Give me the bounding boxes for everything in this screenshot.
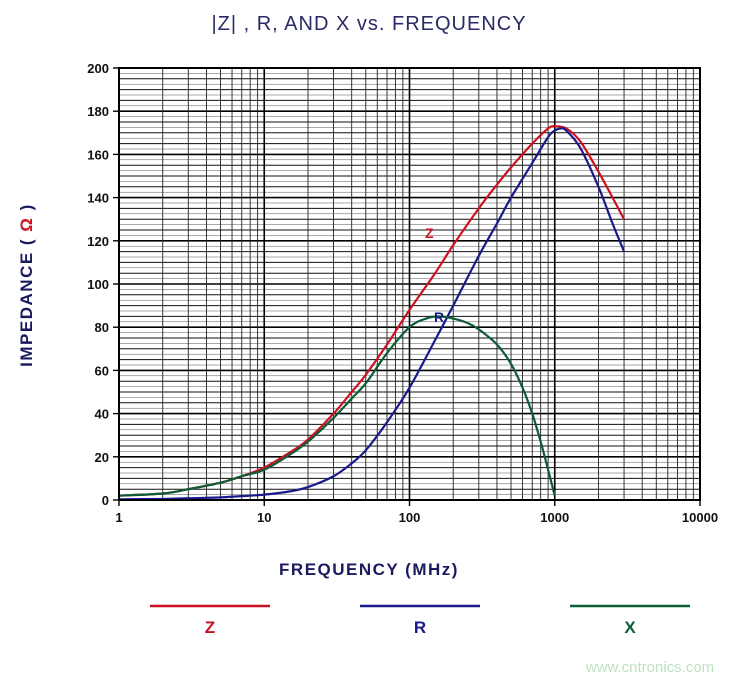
chart-title: |Z| , R, AND X vs. FREQUENCY — [211, 13, 526, 35]
y-axis-title-close: ) — [17, 203, 36, 216]
annotation-r: R — [434, 309, 444, 325]
y-tick-label: 160 — [87, 147, 109, 162]
x-axis-title-main: FREQUENCY ( — [279, 560, 412, 579]
chart-background — [0, 0, 739, 684]
y-tick-label: 140 — [87, 191, 109, 206]
y-tick-label: 200 — [87, 61, 109, 76]
x-tick-label: 1000 — [540, 510, 569, 525]
x-tick-label: 10 — [257, 510, 271, 525]
legend-label-z: Z — [205, 618, 215, 637]
x-tick-label: 100 — [399, 510, 421, 525]
watermark-text: www.cntronics.com — [585, 659, 714, 676]
impedance-frequency-chart: |Z| , R, AND X vs. FREQUENCY 02040608010… — [0, 0, 739, 684]
y-tick-label: 180 — [87, 104, 109, 119]
y-tick-label: 100 — [87, 277, 109, 292]
y-tick-label: 80 — [95, 320, 109, 335]
y-tick-label: 60 — [95, 363, 109, 378]
x-axis-title-close: ) — [452, 560, 459, 579]
x-tick-label: 10000 — [682, 510, 718, 525]
y-tick-label: 120 — [87, 234, 109, 249]
legend-label-x: X — [624, 618, 636, 637]
ohm-symbol: Ω — [17, 217, 36, 232]
x-axis-title-unit: MHz — [412, 560, 451, 579]
y-tick-label: 0 — [102, 493, 109, 508]
grid-layer — [119, 68, 700, 500]
y-tick-label: 40 — [95, 407, 109, 422]
y-tick-label: 20 — [95, 450, 109, 465]
y-axis-title: IMPEDANCE ( Ω ) — [17, 203, 36, 367]
x-tick-label: 1 — [115, 510, 122, 525]
x-axis-title: FREQUENCY (MHz) — [279, 560, 459, 579]
legend-label-r: R — [414, 618, 426, 637]
annotation-z: Z — [425, 225, 434, 241]
y-axis-title-main: IMPEDANCE ( — [17, 232, 36, 367]
